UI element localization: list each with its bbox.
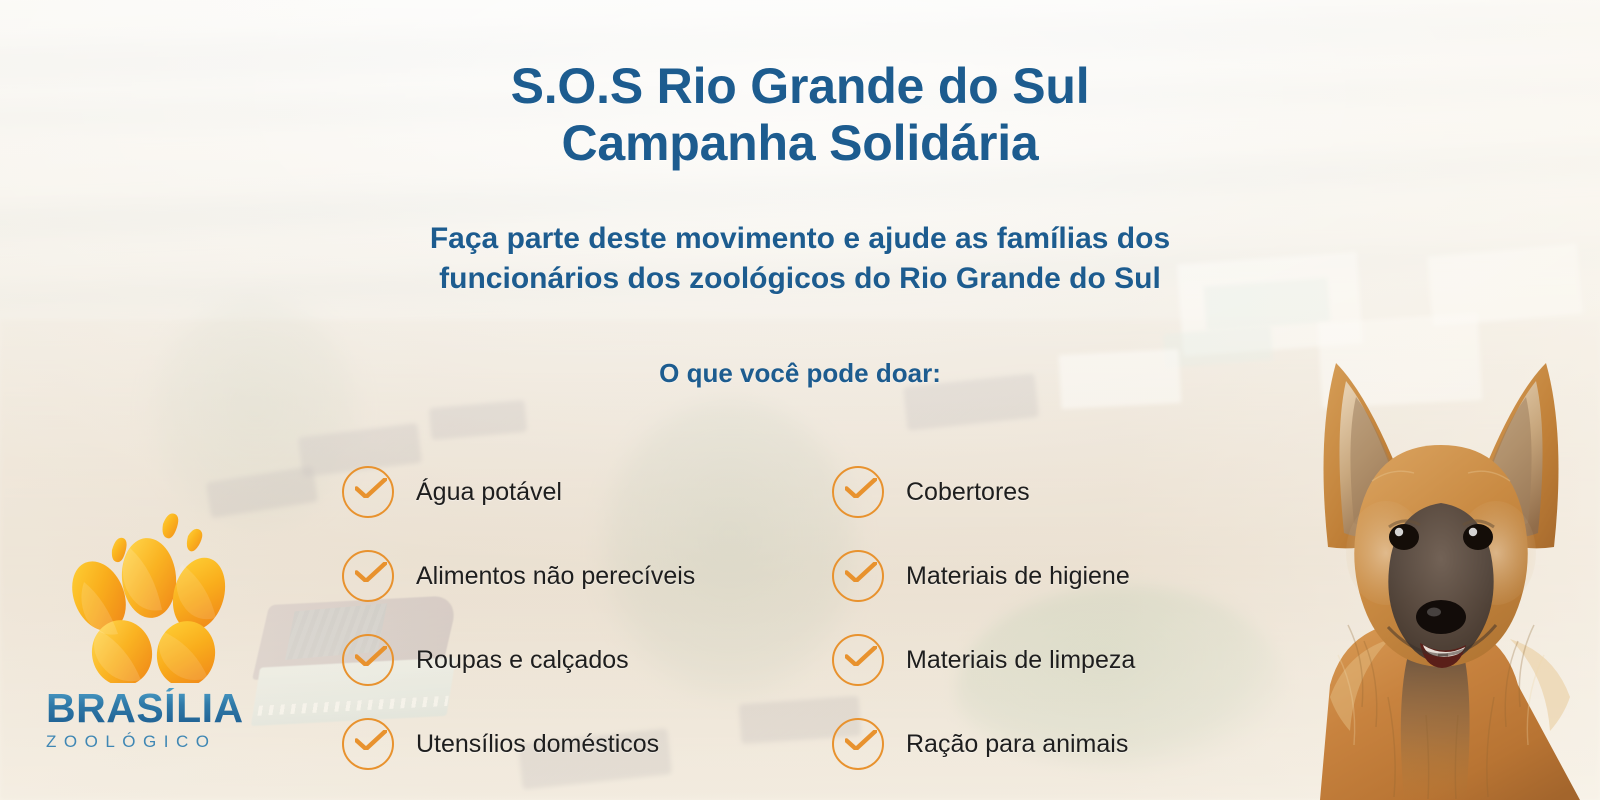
donation-item-label: Utensílios domésticos [416, 730, 659, 759]
donation-item-label: Cobertores [906, 478, 1030, 507]
check-circle-icon [342, 466, 394, 518]
donation-item-materiais-de-limpeza: Materiais de limpeza [832, 634, 1222, 686]
check-circle-icon [832, 550, 884, 602]
headline-line-2: Campanha Solidária [0, 115, 1600, 172]
subheadline-line-1: Faça parte deste movimento e ajude as fa… [430, 222, 1170, 255]
donation-item-label: Roupas e calçados [416, 646, 629, 675]
wolf-nose [1416, 600, 1466, 634]
subheadline-line-2: funcionários dos zoológicos do Rio Grand… [0, 259, 1600, 299]
wolf-eye-left [1389, 524, 1419, 550]
donation-item-label: Alimentos não perecíveis [416, 562, 695, 591]
donation-item-roupas-e-calcados: Roupas e calçados [342, 634, 832, 686]
logo-wordmark: BRASÍLIA ZOOLÓGICO [46, 688, 261, 752]
donation-item-cobertores: Cobertores [832, 466, 1222, 518]
check-circle-icon [832, 718, 884, 770]
check-circle-icon [342, 718, 394, 770]
donation-item-label: Ração para animais [906, 730, 1128, 759]
poster-subheadline: Faça parte deste movimento e ajude as fa… [0, 219, 1600, 298]
donation-checklist: Água potável Cobertores Alimentos não pe… [342, 450, 1222, 786]
wolf-eye-right [1463, 524, 1493, 550]
poster-content: S.O.S Rio Grande do Sul Campanha Solidár… [0, 0, 1600, 800]
donation-item-materiais-de-higiene: Materiais de higiene [832, 550, 1222, 602]
donation-item-label: Materiais de higiene [906, 562, 1130, 591]
donation-item-label: Água potável [416, 478, 562, 507]
check-circle-icon [832, 466, 884, 518]
paw-print-icon [64, 508, 244, 683]
check-circle-icon [342, 550, 394, 602]
donation-item-utensilios-domesticos: Utensílios domésticos [342, 718, 832, 770]
brasilia-zoologico-logo: BRASÍLIA ZOOLÓGICO [46, 508, 261, 770]
donation-item-racao-para-animais: Ração para animais [832, 718, 1222, 770]
logo-subtitle: ZOOLÓGICO [46, 732, 261, 752]
maned-wolf-photo [1268, 325, 1600, 800]
check-circle-icon [342, 634, 394, 686]
donation-item-alimentos-nao-pereciveis: Alimentos não perecíveis [342, 550, 832, 602]
logo-name: BRASÍLIA [46, 688, 261, 729]
donation-item-label: Materiais de limpeza [906, 646, 1135, 675]
donation-item-agua-potavel: Água potável [342, 466, 832, 518]
headline-line-1: S.O.S Rio Grande do Sul [511, 58, 1090, 114]
check-circle-icon [832, 634, 884, 686]
poster-headline: S.O.S Rio Grande do Sul Campanha Solidár… [0, 58, 1600, 172]
campaign-poster: S.O.S Rio Grande do Sul Campanha Solidár… [0, 0, 1600, 800]
